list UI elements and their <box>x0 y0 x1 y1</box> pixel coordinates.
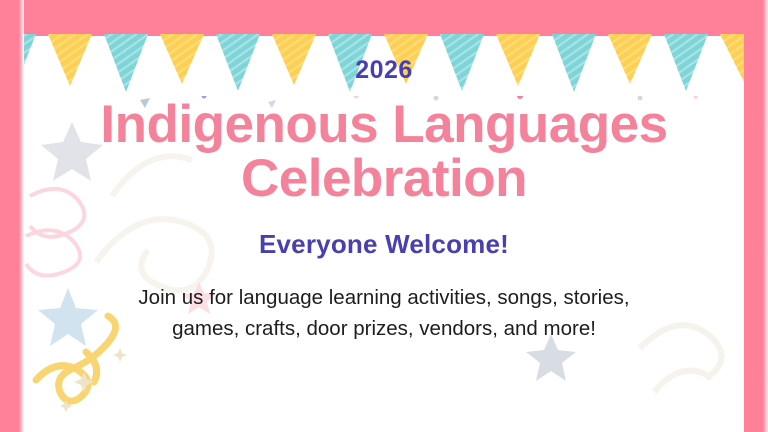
year-label: 2026 <box>24 56 744 85</box>
title-line-1: Indigenous Languages <box>100 95 667 154</box>
poster-content: 2026 Indigenous Languages Celebration Ev… <box>24 0 744 432</box>
title-line-2: Celebration <box>24 152 744 206</box>
body-text: Join us for language learning activities… <box>34 283 734 345</box>
frame-border-left <box>0 0 24 432</box>
frame-border-right <box>744 0 768 432</box>
body-line-1: Join us for language learning activities… <box>34 283 734 314</box>
body-line-2: games, crafts, door prizes, vendors, and… <box>34 314 734 345</box>
poster-canvas: 2026 Indigenous Languages Celebration Ev… <box>0 0 768 432</box>
subtitle: Everyone Welcome! <box>24 229 744 260</box>
page-title: Indigenous Languages Celebration <box>24 98 744 206</box>
